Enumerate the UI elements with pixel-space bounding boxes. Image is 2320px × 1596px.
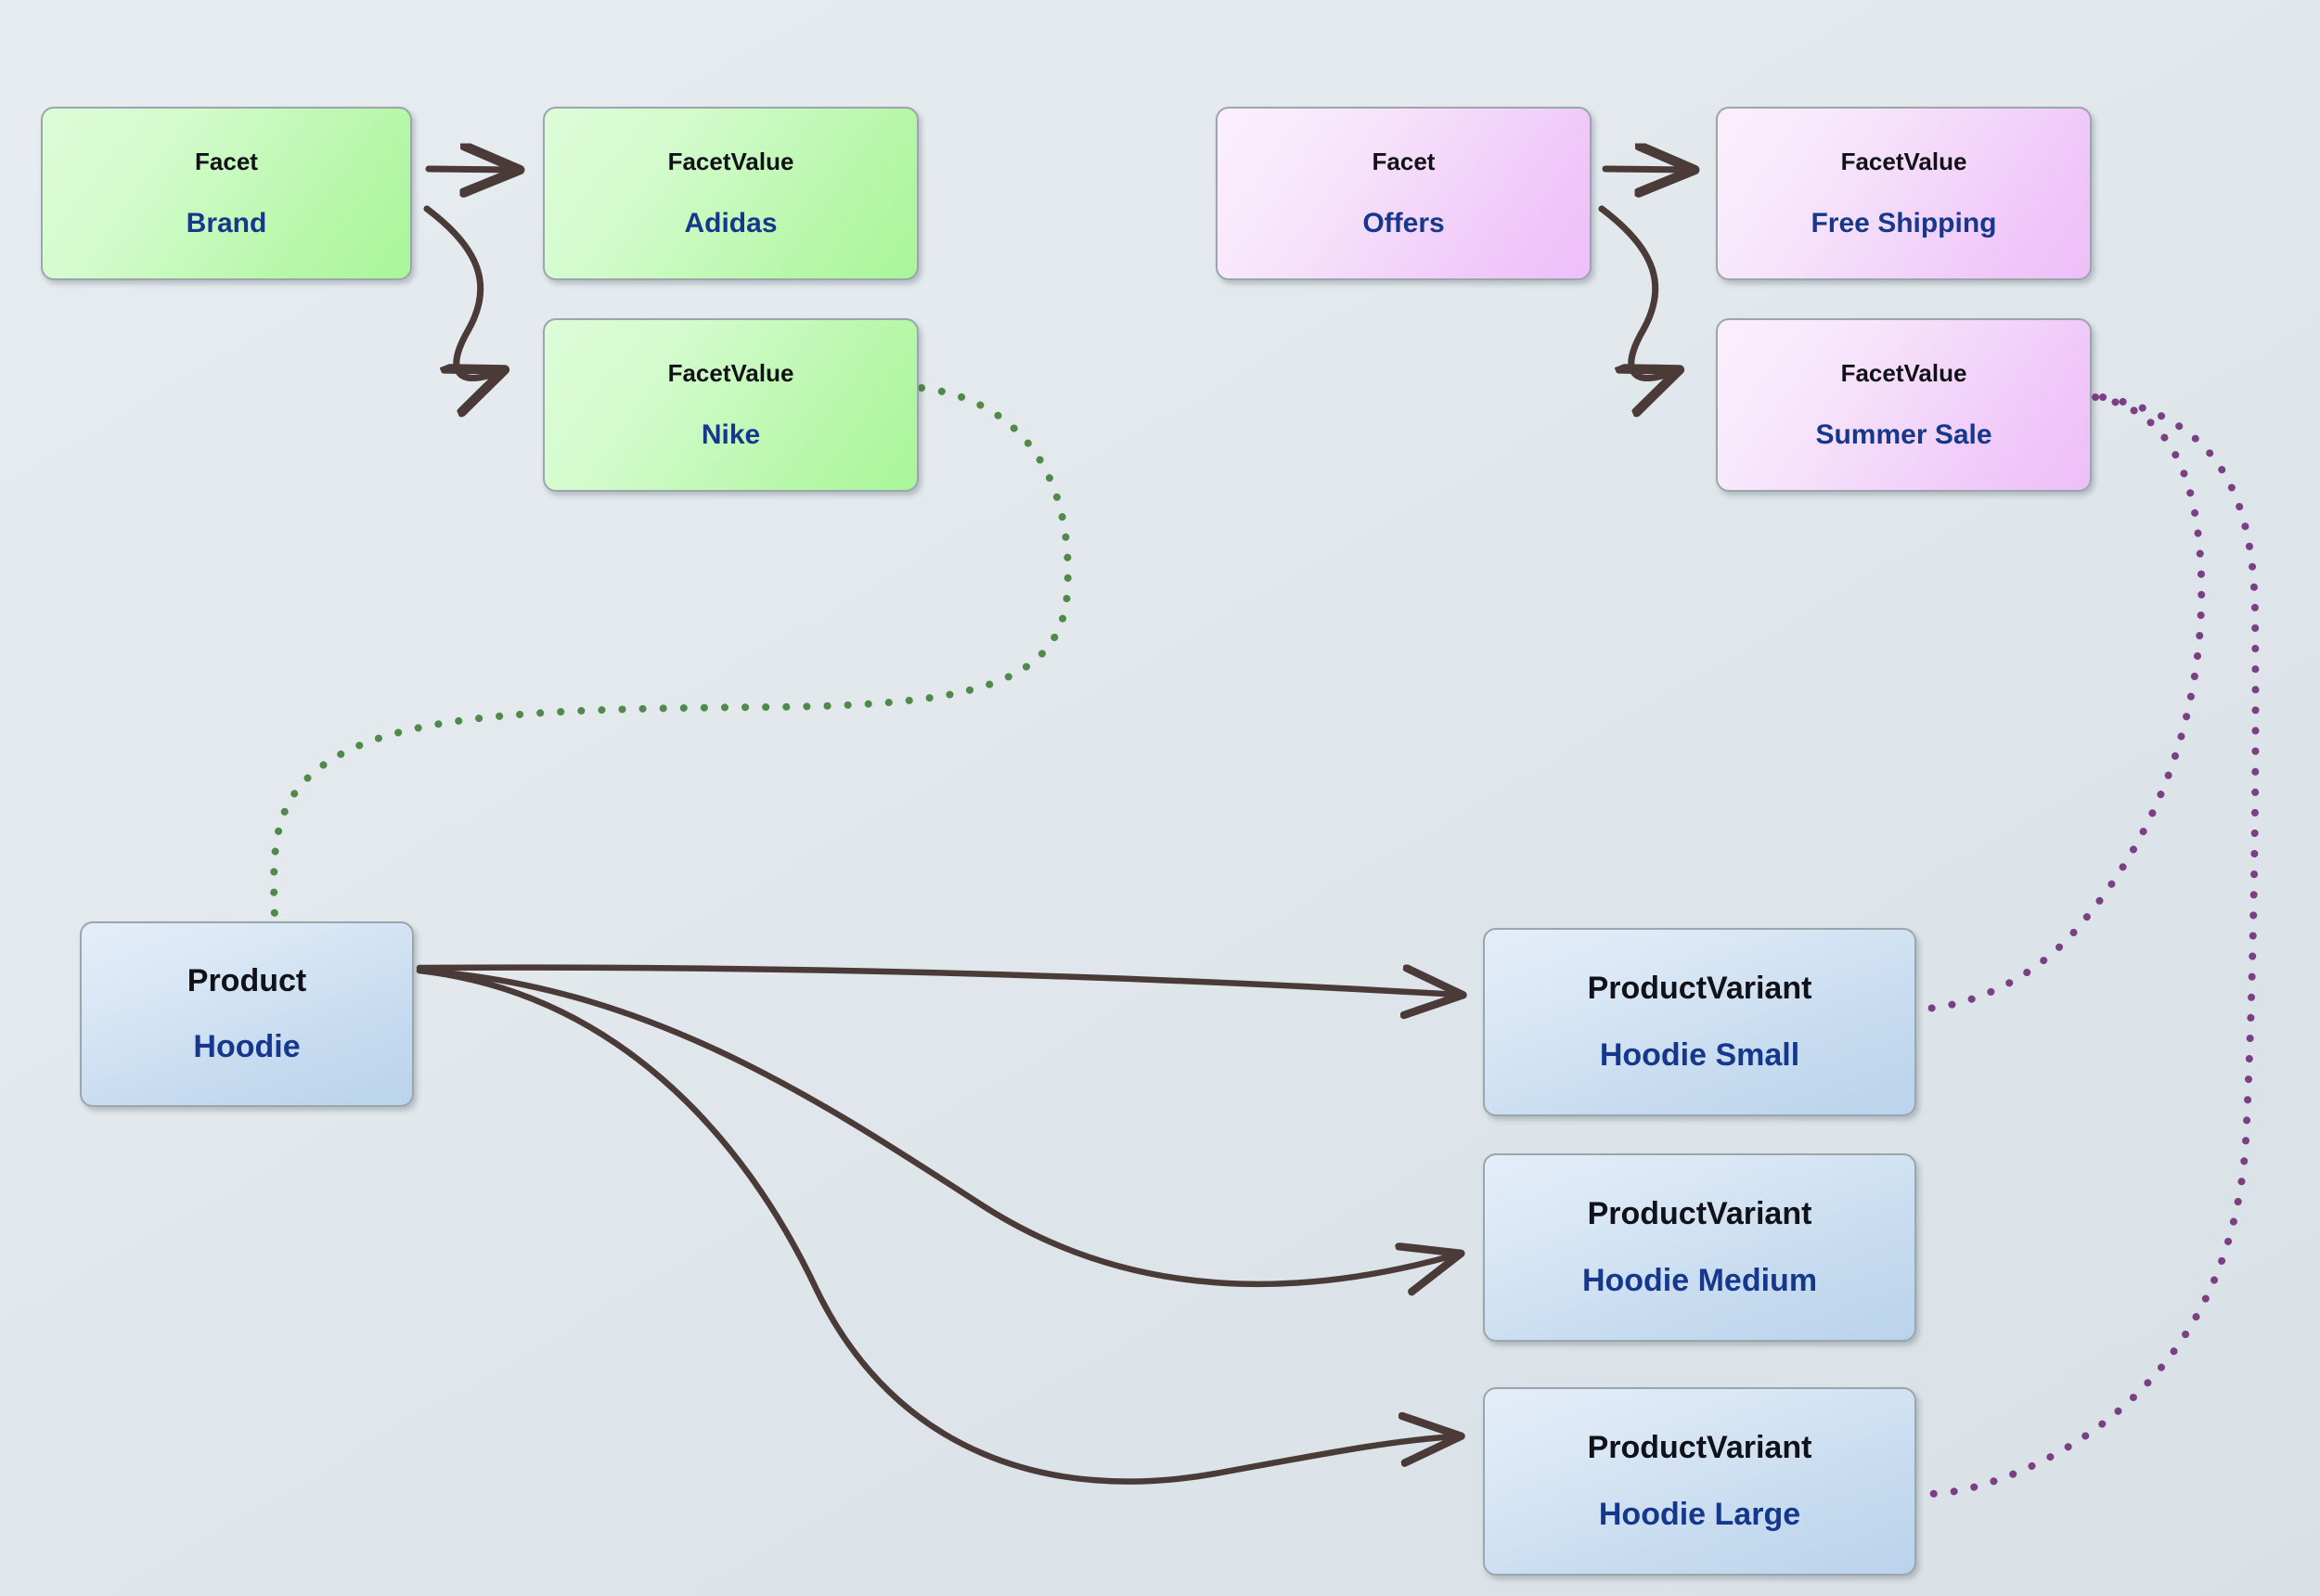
- node-type-label: ProductVariant: [1588, 972, 1812, 1006]
- node-type-label: Product: [187, 964, 306, 998]
- node-value-label: Offers: [1362, 208, 1444, 238]
- edge-offers-free-shipping: [1605, 169, 1691, 170]
- node-type-label: FacetValue: [1841, 148, 1967, 175]
- node-value-label: Brand: [187, 208, 267, 238]
- edge-product-large: [419, 971, 1457, 1482]
- node-value-label: Nike: [702, 419, 760, 450]
- node-value-label: Free Shipping: [1811, 208, 1996, 238]
- node-type-label: FacetValue: [1841, 360, 1967, 387]
- node-value-label: Hoodie: [193, 1030, 300, 1064]
- edge-brand-adidas: [429, 169, 516, 170]
- node-facet-brand[interactable]: Facet Brand: [41, 107, 412, 280]
- node-value-label: Hoodie Large: [1599, 1498, 1800, 1532]
- node-productvariant-hoodie-medium[interactable]: ProductVariant Hoodie Medium: [1483, 1153, 1916, 1342]
- node-facetvalue-summer-sale[interactable]: FacetValue Summer Sale: [1716, 318, 2092, 492]
- node-type-label: ProductVariant: [1588, 1197, 1812, 1231]
- node-value-label: Hoodie Medium: [1582, 1264, 1817, 1298]
- node-facetvalue-free-shipping[interactable]: FacetValue Free Shipping: [1716, 107, 2092, 280]
- node-type-label: FacetValue: [668, 148, 794, 175]
- node-value-label: Adidas: [684, 208, 777, 238]
- node-product-hoodie[interactable]: Product Hoodie: [80, 921, 414, 1107]
- node-facetvalue-adidas[interactable]: FacetValue Adidas: [543, 107, 919, 280]
- node-value-label: Hoodie Small: [1600, 1038, 1799, 1073]
- node-type-label: ProductVariant: [1588, 1431, 1812, 1465]
- edge-brand-nike: [427, 209, 501, 378]
- node-productvariant-hoodie-small[interactable]: ProductVariant Hoodie Small: [1483, 928, 1916, 1116]
- node-type-label: FacetValue: [668, 360, 794, 387]
- node-value-label: Summer Sale: [1815, 419, 1991, 450]
- node-type-label: Facet: [195, 148, 258, 175]
- node-facet-offers[interactable]: Facet Offers: [1216, 107, 1592, 280]
- node-productvariant-hoodie-large[interactable]: ProductVariant Hoodie Large: [1483, 1387, 1916, 1576]
- node-facetvalue-nike[interactable]: FacetValue Nike: [543, 318, 919, 492]
- node-type-label: Facet: [1373, 148, 1436, 175]
- edge-offers-summer-sale: [1602, 209, 1676, 378]
- edge-product-medium: [419, 971, 1457, 1284]
- diagram-canvas: Product Hoodie (green dotted) --> Hoodie…: [0, 0, 2320, 1596]
- edge-product-small: [419, 968, 1459, 995]
- edge-summer-sale-large: [1927, 397, 2256, 1494]
